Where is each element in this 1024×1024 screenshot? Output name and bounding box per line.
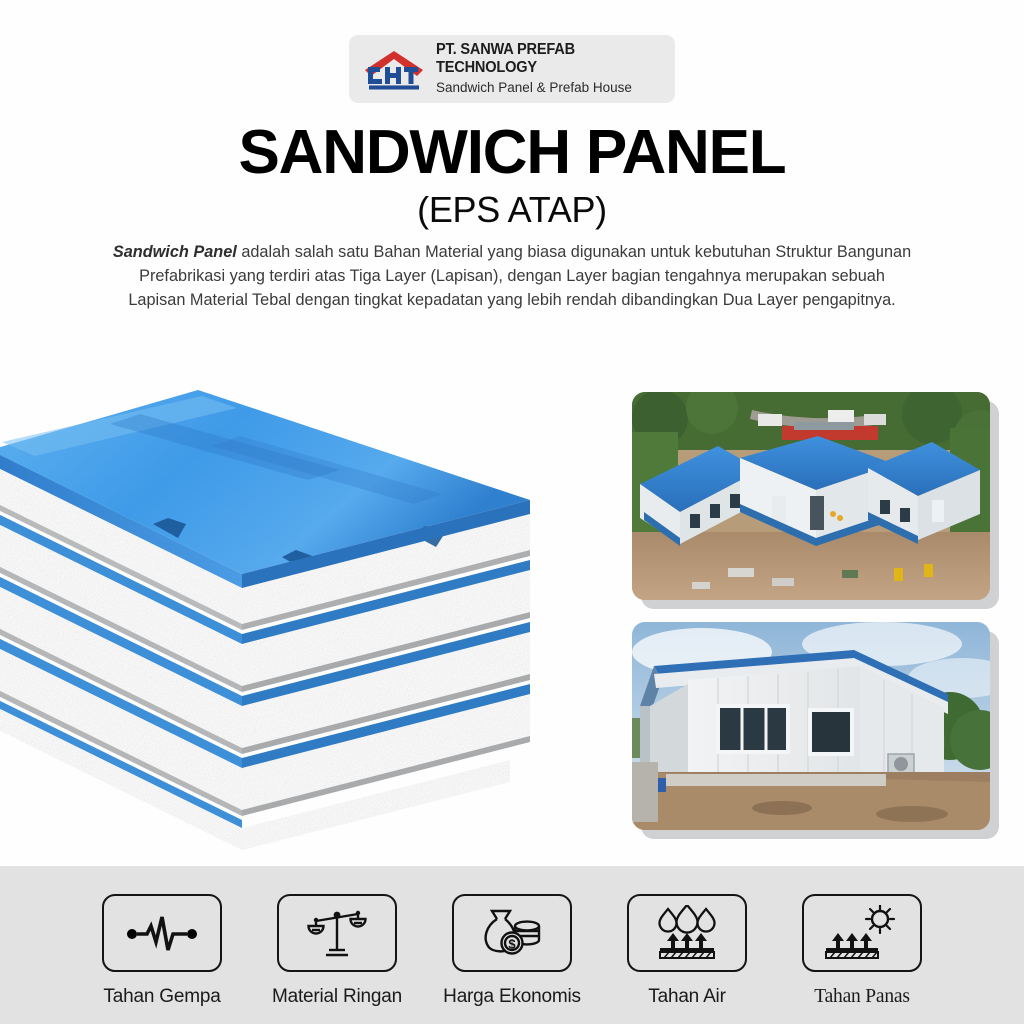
feature-icon-box [627,894,747,972]
feature-icon-box: $ [452,894,572,972]
feature-tahan-panas[interactable]: Tahan Panas [788,894,936,1008]
page-title: SANDWICH PANEL [0,122,1024,184]
feature-label: Tahan Gempa [103,986,220,1008]
svg-text:$: $ [508,937,516,952]
feature-label: Material Ringan [272,986,402,1008]
brand-logo-box: PT. SANWA PREFAB TECHNOLOGY Sandwich Pan… [349,35,675,103]
page-subtitle: (EPS ATAP) [0,192,1024,228]
house-roof-spt-logo-icon [363,46,425,92]
description-body: adalah salah satu Bahan Material yang bi… [128,243,911,309]
feature-tahan-gempa[interactable]: Tahan Gempa [88,894,236,1008]
feature-tahan-air[interactable]: Tahan Air [613,894,761,1008]
company-name: PT. SANWA PREFAB TECHNOLOGY [436,41,648,77]
features-band: Tahan Gempa [0,866,1024,1024]
feature-icon-box [277,894,397,972]
feature-label: Tahan Air [648,986,725,1008]
feature-label: Harga Ekonomis [443,986,581,1008]
money-bag-coins-icon: $ [480,908,544,958]
product-panel-stack-image [0,372,630,852]
description-lead: Sandwich Panel [113,243,237,261]
brand-logo-text: PT. SANWA PREFAB TECHNOLOGY Sandwich Pan… [436,41,661,96]
feature-harga-ekonomis[interactable]: $ Harga Ekonomis [438,894,586,1008]
earthquake-pulse-icon [126,913,198,953]
feature-label: Tahan Panas [814,986,910,1008]
feature-icon-box [102,894,222,972]
photo-white-prefab-building [632,622,990,830]
features-row: Tahan Gempa [0,866,1024,1024]
sun-heat-panel-icon [824,905,900,961]
poster-canvas: PT. SANWA PREFAB TECHNOLOGY Sandwich Pan… [0,0,1024,1024]
balance-scale-icon [307,906,367,960]
feature-material-ringan[interactable]: Material Ringan [263,894,411,1008]
feature-icon-box [802,894,922,972]
water-drops-panel-icon [654,905,720,961]
description-paragraph: Sandwich Panel adalah salah satu Bahan M… [112,240,912,312]
photo-aerial-prefab-barracks [632,392,990,600]
company-tagline: Sandwich Panel & Prefab House [436,79,661,97]
